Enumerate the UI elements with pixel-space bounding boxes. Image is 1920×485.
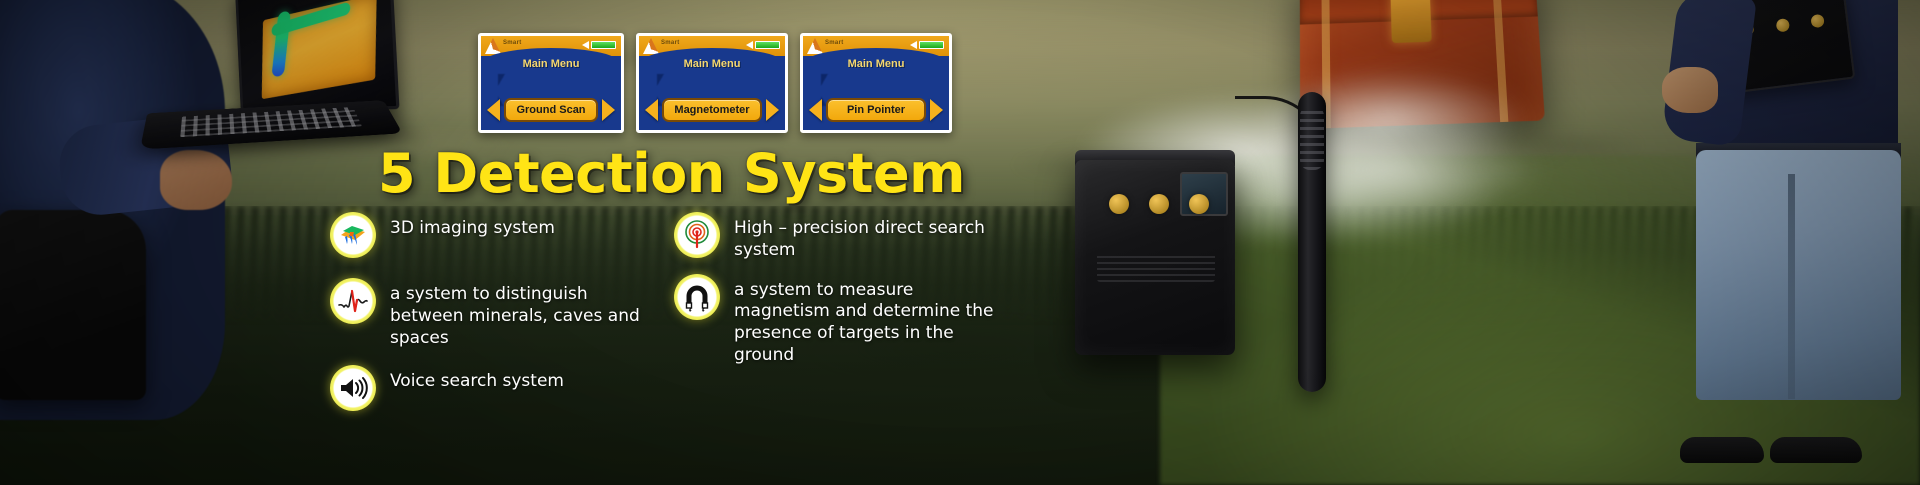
brand-logo-icon [643,38,659,54]
feature-label: a system to distinguish between minerals… [390,278,660,349]
page-title: 5 Detection System [378,142,965,205]
mode-button[interactable]: Pin Pointer [826,98,926,122]
brand-label: Smart [661,40,680,46]
prev-mode-arrow-icon[interactable] [645,99,658,121]
menu-screen-pin-pointer[interactable]: Smart Main Menu Pin Pointer [800,33,952,133]
brand-logo-icon [807,38,823,54]
mode-button[interactable]: Magnetometer [662,98,762,122]
feature-item-mineral-discrimination: a system to distinguish between minerals… [330,278,660,349]
menu-header: Main Menu [639,58,785,70]
next-mode-arrow-icon[interactable] [930,99,943,121]
status-indicators [910,41,944,49]
battery-icon [919,41,944,49]
menu-header: Main Menu [481,58,621,70]
feature-list: 3D imaging system a system to distinguis… [330,212,1004,411]
feature-label: a system to measure magnetism and determ… [734,274,1004,367]
brand-label: Smart [503,40,522,46]
menu-status-bar: Smart [639,36,785,56]
feature-label: High – precision direct search system [734,212,1004,262]
status-indicators [582,41,616,49]
feature-item-high-precision-search: High – precision direct search system [674,212,1004,262]
mode-selector[interactable]: Magnetometer [645,98,779,122]
status-indicators [746,41,780,49]
feature-label: Voice search system [390,365,564,393]
menu-screen-magnetometer[interactable]: Smart Main Menu Magnetometer [636,33,788,133]
next-mode-arrow-icon[interactable] [766,99,779,121]
prev-mode-arrow-icon[interactable] [487,99,500,121]
feature-label: 3D imaging system [390,212,555,240]
3d-terrain-icon [330,212,376,258]
brand-label: Smart [825,40,844,46]
battery-icon [755,41,780,49]
menu-header: Main Menu [803,58,949,70]
mode-button[interactable]: Ground Scan [504,98,598,122]
mode-selector[interactable]: Ground Scan [487,98,615,122]
speaker-icon [746,41,753,49]
menu-status-bar: Smart [803,36,949,56]
feature-item-magnetism-measurement: a system to measure magnetism and determ… [674,274,1004,367]
brand-logo-icon [485,38,501,54]
speaker-sound-icon [330,365,376,411]
menu-screen-ground-scan[interactable]: Smart Main Menu Ground Scan [478,33,624,133]
mode-selector[interactable]: Pin Pointer [809,98,943,122]
speaker-icon [910,41,917,49]
prev-mode-arrow-icon[interactable] [809,99,822,121]
horseshoe-magnet-icon [674,274,720,320]
feature-column-right: High – precision direct search system a … [674,212,1004,411]
feature-item-3d-imaging: 3D imaging system [330,212,660,258]
waveform-pulse-icon [330,278,376,324]
feature-column-left: 3D imaging system a system to distinguis… [330,212,660,411]
signal-target-icon [674,212,720,258]
next-mode-arrow-icon[interactable] [602,99,615,121]
menu-screens-row: Smart Main Menu Ground Scan Smart [478,33,952,133]
menu-status-bar: Smart [481,36,621,56]
promo-banner: Smart Main Menu Ground Scan Smart [0,0,1920,485]
battery-icon [591,41,616,49]
speaker-icon [582,41,589,49]
feature-item-voice-search: Voice search system [330,365,660,411]
